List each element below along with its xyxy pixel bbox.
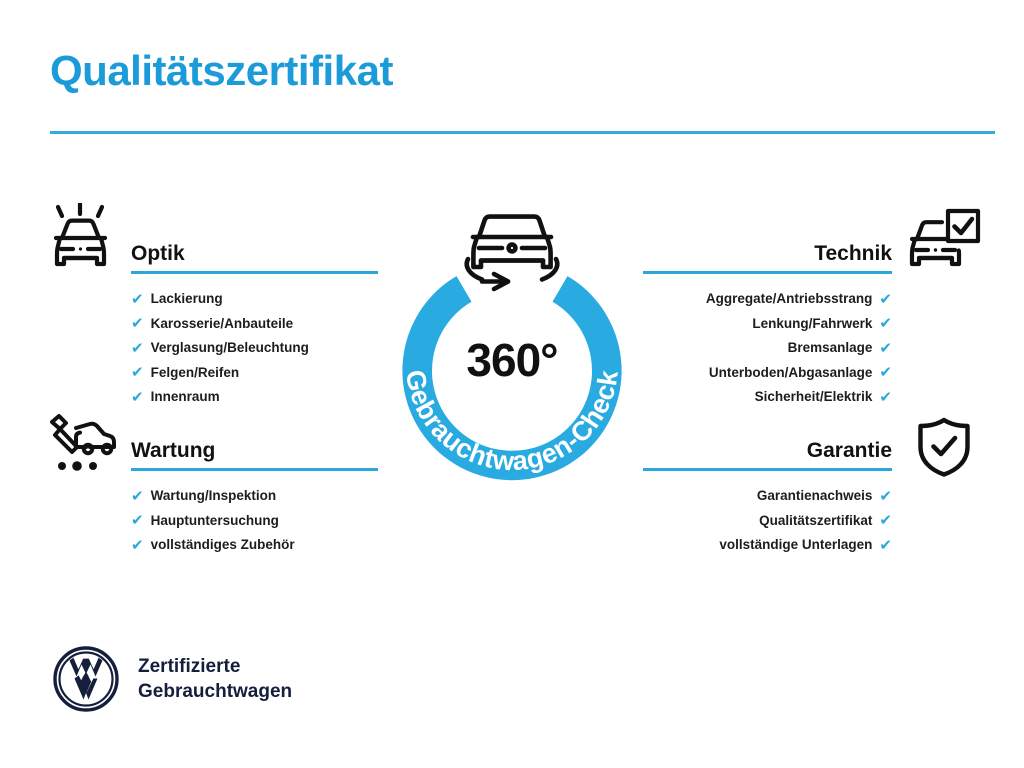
- badge-curved-text: Gebrauchtwagen-Check: [400, 368, 624, 477]
- list-item-label: vollständige Unterlagen: [719, 533, 872, 558]
- section-optik-divider: [131, 271, 378, 274]
- section-garantie: Garantie Garantienachweis✔ Qualitätszert…: [643, 437, 892, 558]
- list-item-label: Innenraum: [151, 385, 220, 410]
- car-front-lights-icon: [46, 203, 116, 274]
- section-technik-head: Technik: [643, 240, 892, 274]
- section-garantie-head: Garantie: [643, 437, 892, 471]
- wrench-car-service-icon: [46, 414, 118, 479]
- list-item: Unterboden/Abgasanlage✔: [643, 361, 892, 386]
- section-technik: Technik Aggregate/Antriebsstrang✔ Lenkun…: [643, 240, 892, 410]
- check-icon: ✔: [131, 365, 144, 380]
- list-item: ✔Wartung/Inspektion: [131, 484, 378, 509]
- list-item: Bremsanlage✔: [643, 336, 892, 361]
- volkswagen-logo: [52, 645, 120, 713]
- check-icon: ✔: [879, 292, 892, 307]
- footer-brand: Zertifizierte Gebrauchtwagen: [52, 645, 292, 713]
- section-optik-title: Optik: [131, 240, 378, 268]
- list-item-label: Qualitätszertifikat: [759, 509, 872, 534]
- footer-brand-text: Zertifizierte Gebrauchtwagen: [138, 654, 292, 704]
- list-item-label: Karosserie/Anbauteile: [151, 312, 294, 337]
- list-item: vollständige Unterlagen✔: [643, 533, 892, 558]
- check-icon: ✔: [131, 341, 144, 356]
- check-icon: ✔: [131, 292, 144, 307]
- section-wartung-list: ✔Wartung/Inspektion ✔Hauptuntersuchung ✔…: [131, 484, 378, 558]
- list-item: ✔Felgen/Reifen: [131, 361, 378, 386]
- section-technik-title: Technik: [643, 240, 892, 268]
- check-icon: ✔: [131, 538, 144, 553]
- section-wartung-title: Wartung: [131, 437, 378, 465]
- check-icon: ✔: [131, 390, 144, 405]
- list-item-label: Lackierung: [151, 287, 223, 312]
- section-optik: Optik ✔Lackierung ✔Karosserie/Anbauteile…: [131, 240, 378, 410]
- section-garantie-title: Garantie: [643, 437, 892, 465]
- list-item-label: Aggregate/Antriebsstrang: [706, 287, 873, 312]
- check-icon: ✔: [131, 316, 144, 331]
- list-item-label: Hauptuntersuchung: [151, 509, 279, 534]
- check-icon: ✔: [879, 390, 892, 405]
- check-icon: ✔: [879, 316, 892, 331]
- list-item: ✔Innenraum: [131, 385, 378, 410]
- badge-360-gebrauchtwagen-check: Gebrauchtwagen-Check: [379, 199, 645, 499]
- list-item: ✔Hauptuntersuchung: [131, 509, 378, 534]
- check-icon: ✔: [879, 365, 892, 380]
- section-garantie-divider: [643, 468, 892, 471]
- list-item: ✔Karosserie/Anbauteile: [131, 312, 378, 337]
- list-item-label: Garantienachweis: [757, 484, 873, 509]
- list-item: Lenkung/Fahrwerk✔: [643, 312, 892, 337]
- list-item-label: Sicherheit/Elektrik: [755, 385, 873, 410]
- certificate-page: Qualitätszertifikat: [0, 0, 1024, 768]
- section-optik-list: ✔Lackierung ✔Karosserie/Anbauteile ✔Verg…: [131, 287, 378, 410]
- list-item-label: Bremsanlage: [788, 336, 873, 361]
- check-icon: ✔: [131, 489, 144, 504]
- list-item: Aggregate/Antriebsstrang✔: [643, 287, 892, 312]
- list-item: Sicherheit/Elektrik✔: [643, 385, 892, 410]
- list-item: ✔vollständiges Zubehör: [131, 533, 378, 558]
- list-item-label: Felgen/Reifen: [151, 361, 240, 386]
- check-icon: ✔: [879, 513, 892, 528]
- section-wartung: Wartung ✔Wartung/Inspektion ✔Hauptunters…: [131, 437, 378, 558]
- check-icon: ✔: [879, 538, 892, 553]
- list-item: Qualitätszertifikat✔: [643, 509, 892, 534]
- section-wartung-divider: [131, 468, 378, 471]
- check-icon: ✔: [131, 513, 144, 528]
- page-title: Qualitätszertifikat: [50, 48, 393, 94]
- car-front-checkbox-icon: [906, 208, 982, 275]
- list-item-label: Lenkung/Fahrwerk: [752, 312, 872, 337]
- list-item: Garantienachweis✔: [643, 484, 892, 509]
- list-item: ✔Verglasung/Beleuchtung: [131, 336, 378, 361]
- list-item-label: vollständiges Zubehör: [151, 533, 295, 558]
- title-divider: [50, 131, 995, 134]
- footer-line-2: Gebrauchtwagen: [138, 679, 292, 704]
- shield-check-icon: [915, 416, 973, 483]
- section-garantie-list: Garantienachweis✔ Qualitätszertifikat✔ v…: [643, 484, 892, 558]
- check-icon: ✔: [879, 341, 892, 356]
- check-icon: ✔: [879, 489, 892, 504]
- list-item-label: Verglasung/Beleuchtung: [151, 336, 309, 361]
- section-technik-list: Aggregate/Antriebsstrang✔ Lenkung/Fahrwe…: [643, 287, 892, 410]
- list-item-label: Unterboden/Abgasanlage: [709, 361, 873, 386]
- section-wartung-head: Wartung: [131, 437, 378, 471]
- section-technik-divider: [643, 271, 892, 274]
- list-item: ✔Lackierung: [131, 287, 378, 312]
- footer-line-1: Zertifizierte: [138, 654, 292, 679]
- section-optik-head: Optik: [131, 240, 378, 274]
- car-rotate-icon: [467, 217, 557, 289]
- list-item-label: Wartung/Inspektion: [151, 484, 277, 509]
